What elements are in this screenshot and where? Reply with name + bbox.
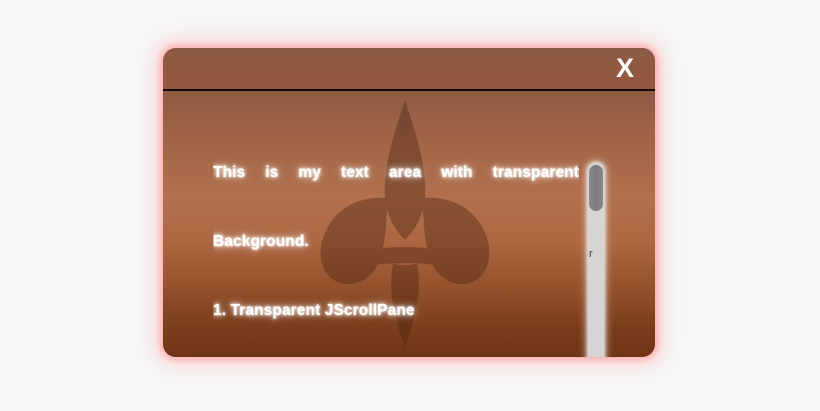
close-button[interactable]: X <box>608 50 642 86</box>
text-line-item: 1. Transparent JScrollPane <box>213 299 579 322</box>
text-area[interactable]: This is my text area with transparent Ba… <box>213 115 579 347</box>
application-window: X <box>163 48 655 357</box>
title-bar-separator <box>163 89 655 91</box>
vertical-scrollbar[interactable]: r <box>588 163 604 357</box>
scroll-pane: This is my text area with transparent Ba… <box>163 91 655 357</box>
text-line: Background. <box>213 230 579 253</box>
window-body: This is my text area with transparent Ba… <box>163 91 655 357</box>
scrollbar-thumb[interactable] <box>589 165 603 211</box>
scrollbar-track[interactable]: r <box>588 163 604 357</box>
title-bar[interactable]: X <box>163 48 655 89</box>
text-line: This is my text area with transparent <box>213 161 579 184</box>
scrollbar-marker-label: r <box>589 249 593 260</box>
